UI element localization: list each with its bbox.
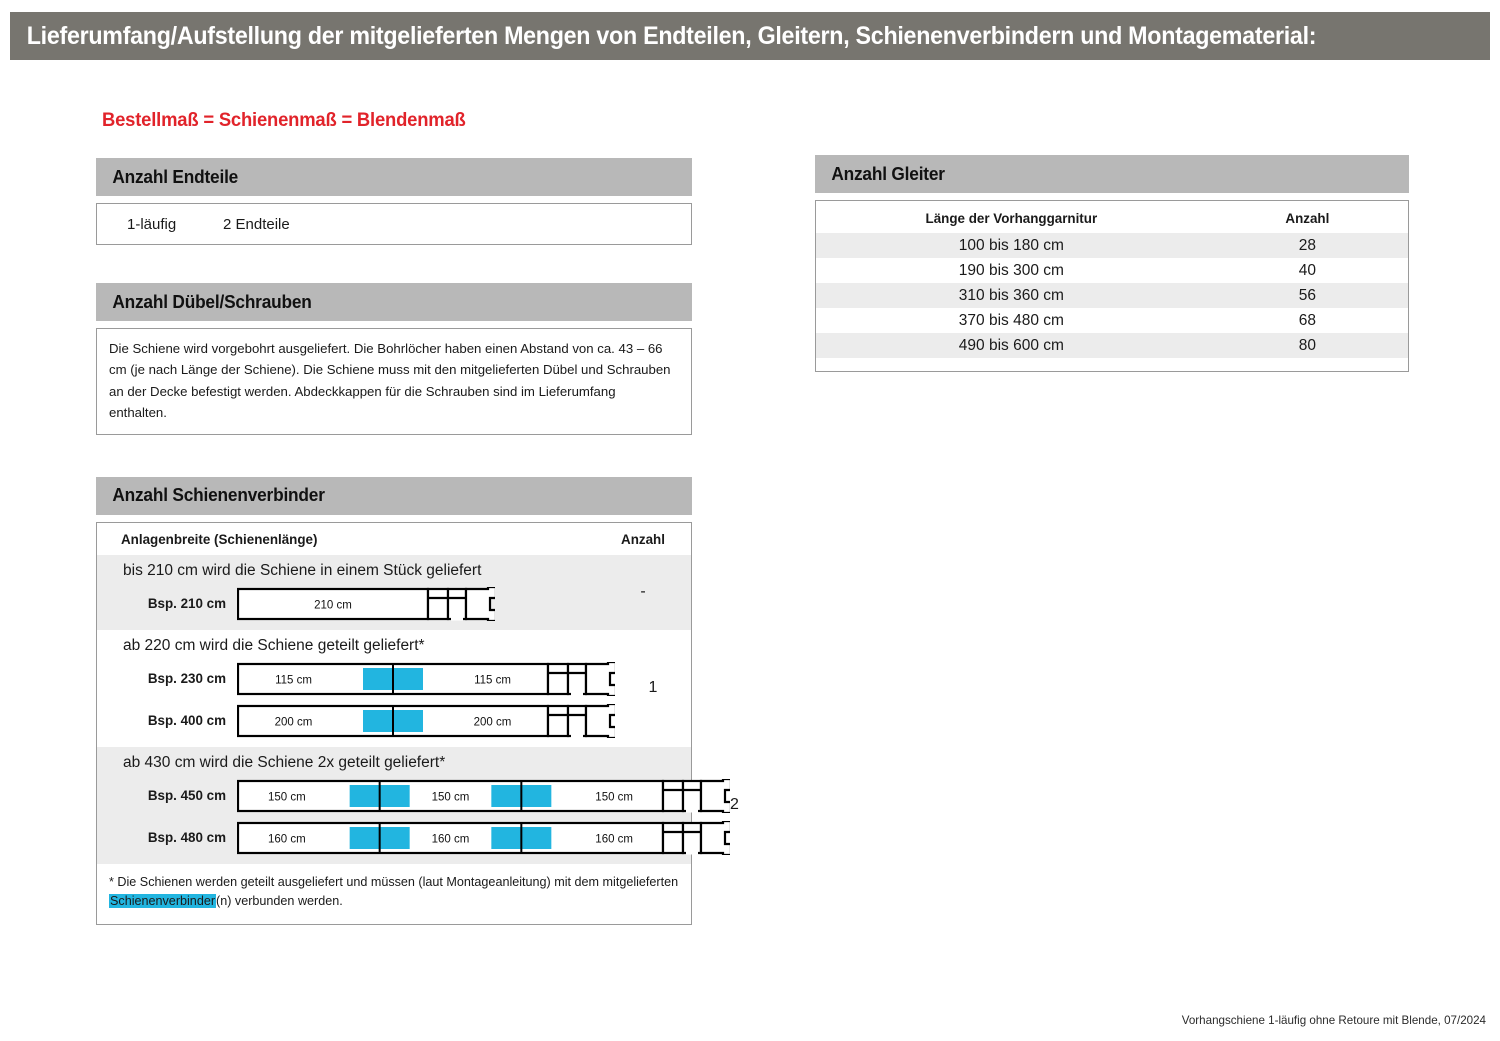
svg-text:210 cm: 210 cm xyxy=(314,599,352,611)
footnote-text-end: (n) verbunden werden. xyxy=(216,894,343,908)
page-title: Lieferumfang/Aufstellung der mitgeliefer… xyxy=(10,22,1316,51)
rail-example-label: Bsp. 230 cm xyxy=(97,671,237,686)
gleiter-table: Länge der Vorhanggarnitur Anzahl 100 bis… xyxy=(816,201,1408,371)
panel-duebel: Die Schiene wird vorgebohrt ausgeliefert… xyxy=(96,328,692,435)
svg-text:150 cm: 150 cm xyxy=(432,791,470,803)
left-column: Bestellmaß = Schienenmaß = Blendenmaß An… xyxy=(96,110,692,925)
table-spacer xyxy=(816,358,1408,371)
rail-diagram: 150 cm150 cm150 cm xyxy=(237,779,730,813)
section-header-schienenverbinder: Anzahl Schienenverbinder xyxy=(96,477,692,515)
section-title-duebel: Anzahl Dübel/Schrauben xyxy=(96,292,312,313)
section-title-schienenverbinder: Anzahl Schienenverbinder xyxy=(96,485,325,506)
footnote-text-start: * Die Schienen werden geteilt ausgeliefe… xyxy=(109,875,678,889)
measurement-heading: Bestellmaß = Schienenmaß = Blendenmaß xyxy=(102,110,674,132)
rail-diagram: 160 cm160 cm160 cm xyxy=(237,821,730,855)
footnote-highlight: Schienenverbinder xyxy=(109,894,216,908)
svg-text:200 cm: 200 cm xyxy=(275,716,313,728)
rail-example-label: Bsp. 480 cm xyxy=(97,830,237,845)
table-row: 370 bis 480 cm68 xyxy=(816,308,1408,333)
rail-example-label: Bsp. 210 cm xyxy=(97,596,237,611)
gleiter-range: 310 bis 360 cm xyxy=(816,283,1207,308)
rail-diagram: 115 cm115 cm xyxy=(237,662,615,696)
table-header-row: Länge der Vorhanggarnitur Anzahl xyxy=(816,201,1408,233)
panel-endteile: 1-läufig 2 Endteile xyxy=(96,203,692,245)
rail-example: Bsp. 400 cm200 cm200 cm xyxy=(97,704,615,738)
right-column: Anzahl Gleiter Länge der Vorhanggarnitur… xyxy=(815,155,1409,372)
svg-text:115 cm: 115 cm xyxy=(275,674,312,686)
group-condition: bis 210 cm wird die Schiene in einem Stü… xyxy=(97,562,595,584)
panel-gleiter: Länge der Vorhanggarnitur Anzahl 100 bis… xyxy=(815,200,1409,372)
schienenverbinder-footnote: * Die Schienen werden geteilt ausgeliefe… xyxy=(97,864,691,924)
endteile-count: 2 Endteile xyxy=(223,216,290,233)
table-row: 310 bis 360 cm56 xyxy=(816,283,1408,308)
rail-example-label: Bsp. 400 cm xyxy=(97,713,237,728)
rail-example-label: Bsp. 450 cm xyxy=(97,788,237,803)
gleiter-range: 490 bis 600 cm xyxy=(816,333,1207,358)
rail-diagram: 200 cm200 cm xyxy=(237,704,615,738)
rail-example: Bsp. 450 cm150 cm150 cm150 cm xyxy=(97,779,730,813)
group-content: bis 210 cm wird die Schiene in einem Stü… xyxy=(97,555,595,630)
rail-diagram: 210 cm xyxy=(237,587,495,621)
schienenverbinder-groups: bis 210 cm wird die Schiene in einem Stü… xyxy=(97,555,691,864)
group-connector-count: - xyxy=(595,555,691,630)
group-content: ab 430 cm wird die Schiene 2x geteilt ge… xyxy=(97,747,730,864)
gleiter-count: 40 xyxy=(1207,258,1408,283)
svg-text:160 cm: 160 cm xyxy=(268,833,306,845)
section-header-duebel: Anzahl Dübel/Schrauben xyxy=(96,283,692,321)
section-header-endteile: Anzahl Endteile xyxy=(96,158,692,196)
svg-text:200 cm: 200 cm xyxy=(474,716,512,728)
group-content: ab 220 cm wird die Schiene geteilt gelie… xyxy=(97,630,615,747)
schienenverbinder-group: bis 210 cm wird die Schiene in einem Stü… xyxy=(97,555,691,630)
gleiter-range: 370 bis 480 cm xyxy=(816,308,1207,333)
section-header-gleiter: Anzahl Gleiter xyxy=(815,155,1409,193)
svg-text:150 cm: 150 cm xyxy=(268,791,306,803)
gleiter-count: 56 xyxy=(1207,283,1408,308)
gleiter-count: 28 xyxy=(1207,233,1408,258)
section-title-gleiter: Anzahl Gleiter xyxy=(815,164,945,185)
rail-example: Bsp. 210 cm210 cm xyxy=(97,587,595,621)
schienenverbinder-group: ab 220 cm wird die Schiene geteilt gelie… xyxy=(97,630,691,747)
table-row: 490 bis 600 cm80 xyxy=(816,333,1408,358)
svg-text:160 cm: 160 cm xyxy=(432,833,470,845)
duebel-description: Die Schiene wird vorgebohrt ausgeliefert… xyxy=(97,329,691,434)
schienenverbinder-table-header: Anlagenbreite (Schienenlänge) Anzahl xyxy=(97,523,691,555)
page-banner: Lieferumfang/Aufstellung der mitgeliefer… xyxy=(10,12,1490,60)
gleiter-count: 80 xyxy=(1207,333,1408,358)
table-row: 190 bis 300 cm40 xyxy=(816,258,1408,283)
group-connector-count: 2 xyxy=(730,747,739,864)
table-row: 100 bis 180 cm28 xyxy=(816,233,1408,258)
gleiter-range: 100 bis 180 cm xyxy=(816,233,1207,258)
gleiter-count: 68 xyxy=(1207,308,1408,333)
svg-text:150 cm: 150 cm xyxy=(595,791,633,803)
column-header-laenge: Länge der Vorhanggarnitur xyxy=(816,201,1207,233)
rail-example: Bsp. 230 cm115 cm115 cm xyxy=(97,662,615,696)
group-connector-count: 1 xyxy=(615,630,691,747)
rail-example: Bsp. 480 cm160 cm160 cm160 cm xyxy=(97,821,730,855)
table-row: 1-läufig 2 Endteile xyxy=(97,204,691,244)
group-condition: ab 430 cm wird die Schiene 2x geteilt ge… xyxy=(97,754,730,776)
schienenverbinder-group: ab 430 cm wird die Schiene 2x geteilt ge… xyxy=(97,747,691,864)
column-header-anzahl: Anzahl xyxy=(595,532,691,547)
section-title-endteile: Anzahl Endteile xyxy=(96,167,238,188)
svg-text:160 cm: 160 cm xyxy=(595,833,633,845)
page-footer: Vorhangschiene 1-läufig ohne Retoure mit… xyxy=(1182,1014,1486,1027)
column-header-anlagenbreite: Anlagenbreite (Schienenlänge) xyxy=(97,532,595,547)
column-header-anzahl: Anzahl xyxy=(1207,201,1408,233)
endteile-type: 1-läufig xyxy=(127,216,223,233)
svg-text:115 cm: 115 cm xyxy=(474,674,511,686)
gleiter-range: 190 bis 300 cm xyxy=(816,258,1207,283)
panel-schienenverbinder: Anlagenbreite (Schienenlänge) Anzahl bis… xyxy=(96,522,692,925)
group-condition: ab 220 cm wird die Schiene geteilt gelie… xyxy=(97,637,615,659)
